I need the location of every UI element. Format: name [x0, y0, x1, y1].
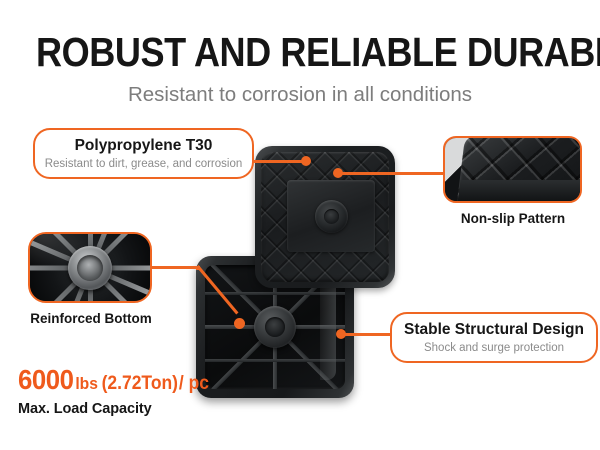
connector-line-pattern — [337, 172, 445, 175]
load-capacity-value-line: 6000lbs(2.72Ton)/ pc — [18, 366, 209, 399]
connector-dot-stable — [336, 329, 346, 339]
connector-dot-pattern — [333, 168, 343, 178]
reinforced-bottom-closeup-art — [30, 234, 150, 301]
pad-edge-shadow — [457, 180, 582, 203]
load-metric: (2.72Ton) — [102, 373, 178, 394]
load-capacity-caption: Max. Load Capacity — [18, 401, 226, 417]
pad-sidewall — [320, 274, 336, 380]
non-slip-closeup-art — [445, 138, 580, 201]
connector-dot-bottom — [234, 318, 245, 329]
inset-photo-reinforced-bottom[interactable] — [28, 232, 152, 303]
load-per-piece: / pc — [179, 373, 209, 394]
callout-stable-structural-design[interactable]: Stable Structural Design Shock and surge… — [390, 312, 598, 363]
connector-dot-material — [301, 156, 311, 166]
connector-line-material — [252, 160, 306, 163]
inset-label-non-slip-pattern: Non-slip Pattern — [413, 210, 600, 227]
inset-photo-non-slip-pattern[interactable] — [443, 136, 582, 203]
callout-subtitle: Shock and surge protection — [424, 341, 564, 356]
center-boss — [315, 200, 348, 233]
load-unit: lbs — [75, 374, 98, 393]
connector-line-stable — [340, 333, 392, 336]
load-capacity-block: 6000lbs(2.72Ton)/ pc Max. Load Capacity — [18, 366, 226, 417]
center-hub — [254, 306, 296, 348]
page-subtitle: Resistant to corrosion in all conditions — [0, 83, 600, 107]
callout-subtitle: Resistant to dirt, grease, and corrosion — [45, 157, 243, 172]
connector-line-bottom-a — [150, 266, 200, 269]
inset-label-reinforced-bottom: Reinforced Bottom — [0, 310, 182, 327]
load-value: 6000 — [18, 364, 73, 395]
callout-title: Stable Structural Design — [404, 320, 584, 339]
callout-title: Polypropylene T30 — [75, 136, 213, 155]
highlight-gloss — [28, 232, 90, 268]
callout-polypropylene[interactable]: Polypropylene T30 Resistant to dirt, gre… — [33, 128, 254, 179]
infographic-canvas: ROBUST AND RELIABLE DURABILITY Resistant… — [0, 0, 600, 450]
product-top-view — [255, 146, 395, 288]
page-title: ROBUST AND RELIABLE DURABILITY — [36, 30, 564, 74]
